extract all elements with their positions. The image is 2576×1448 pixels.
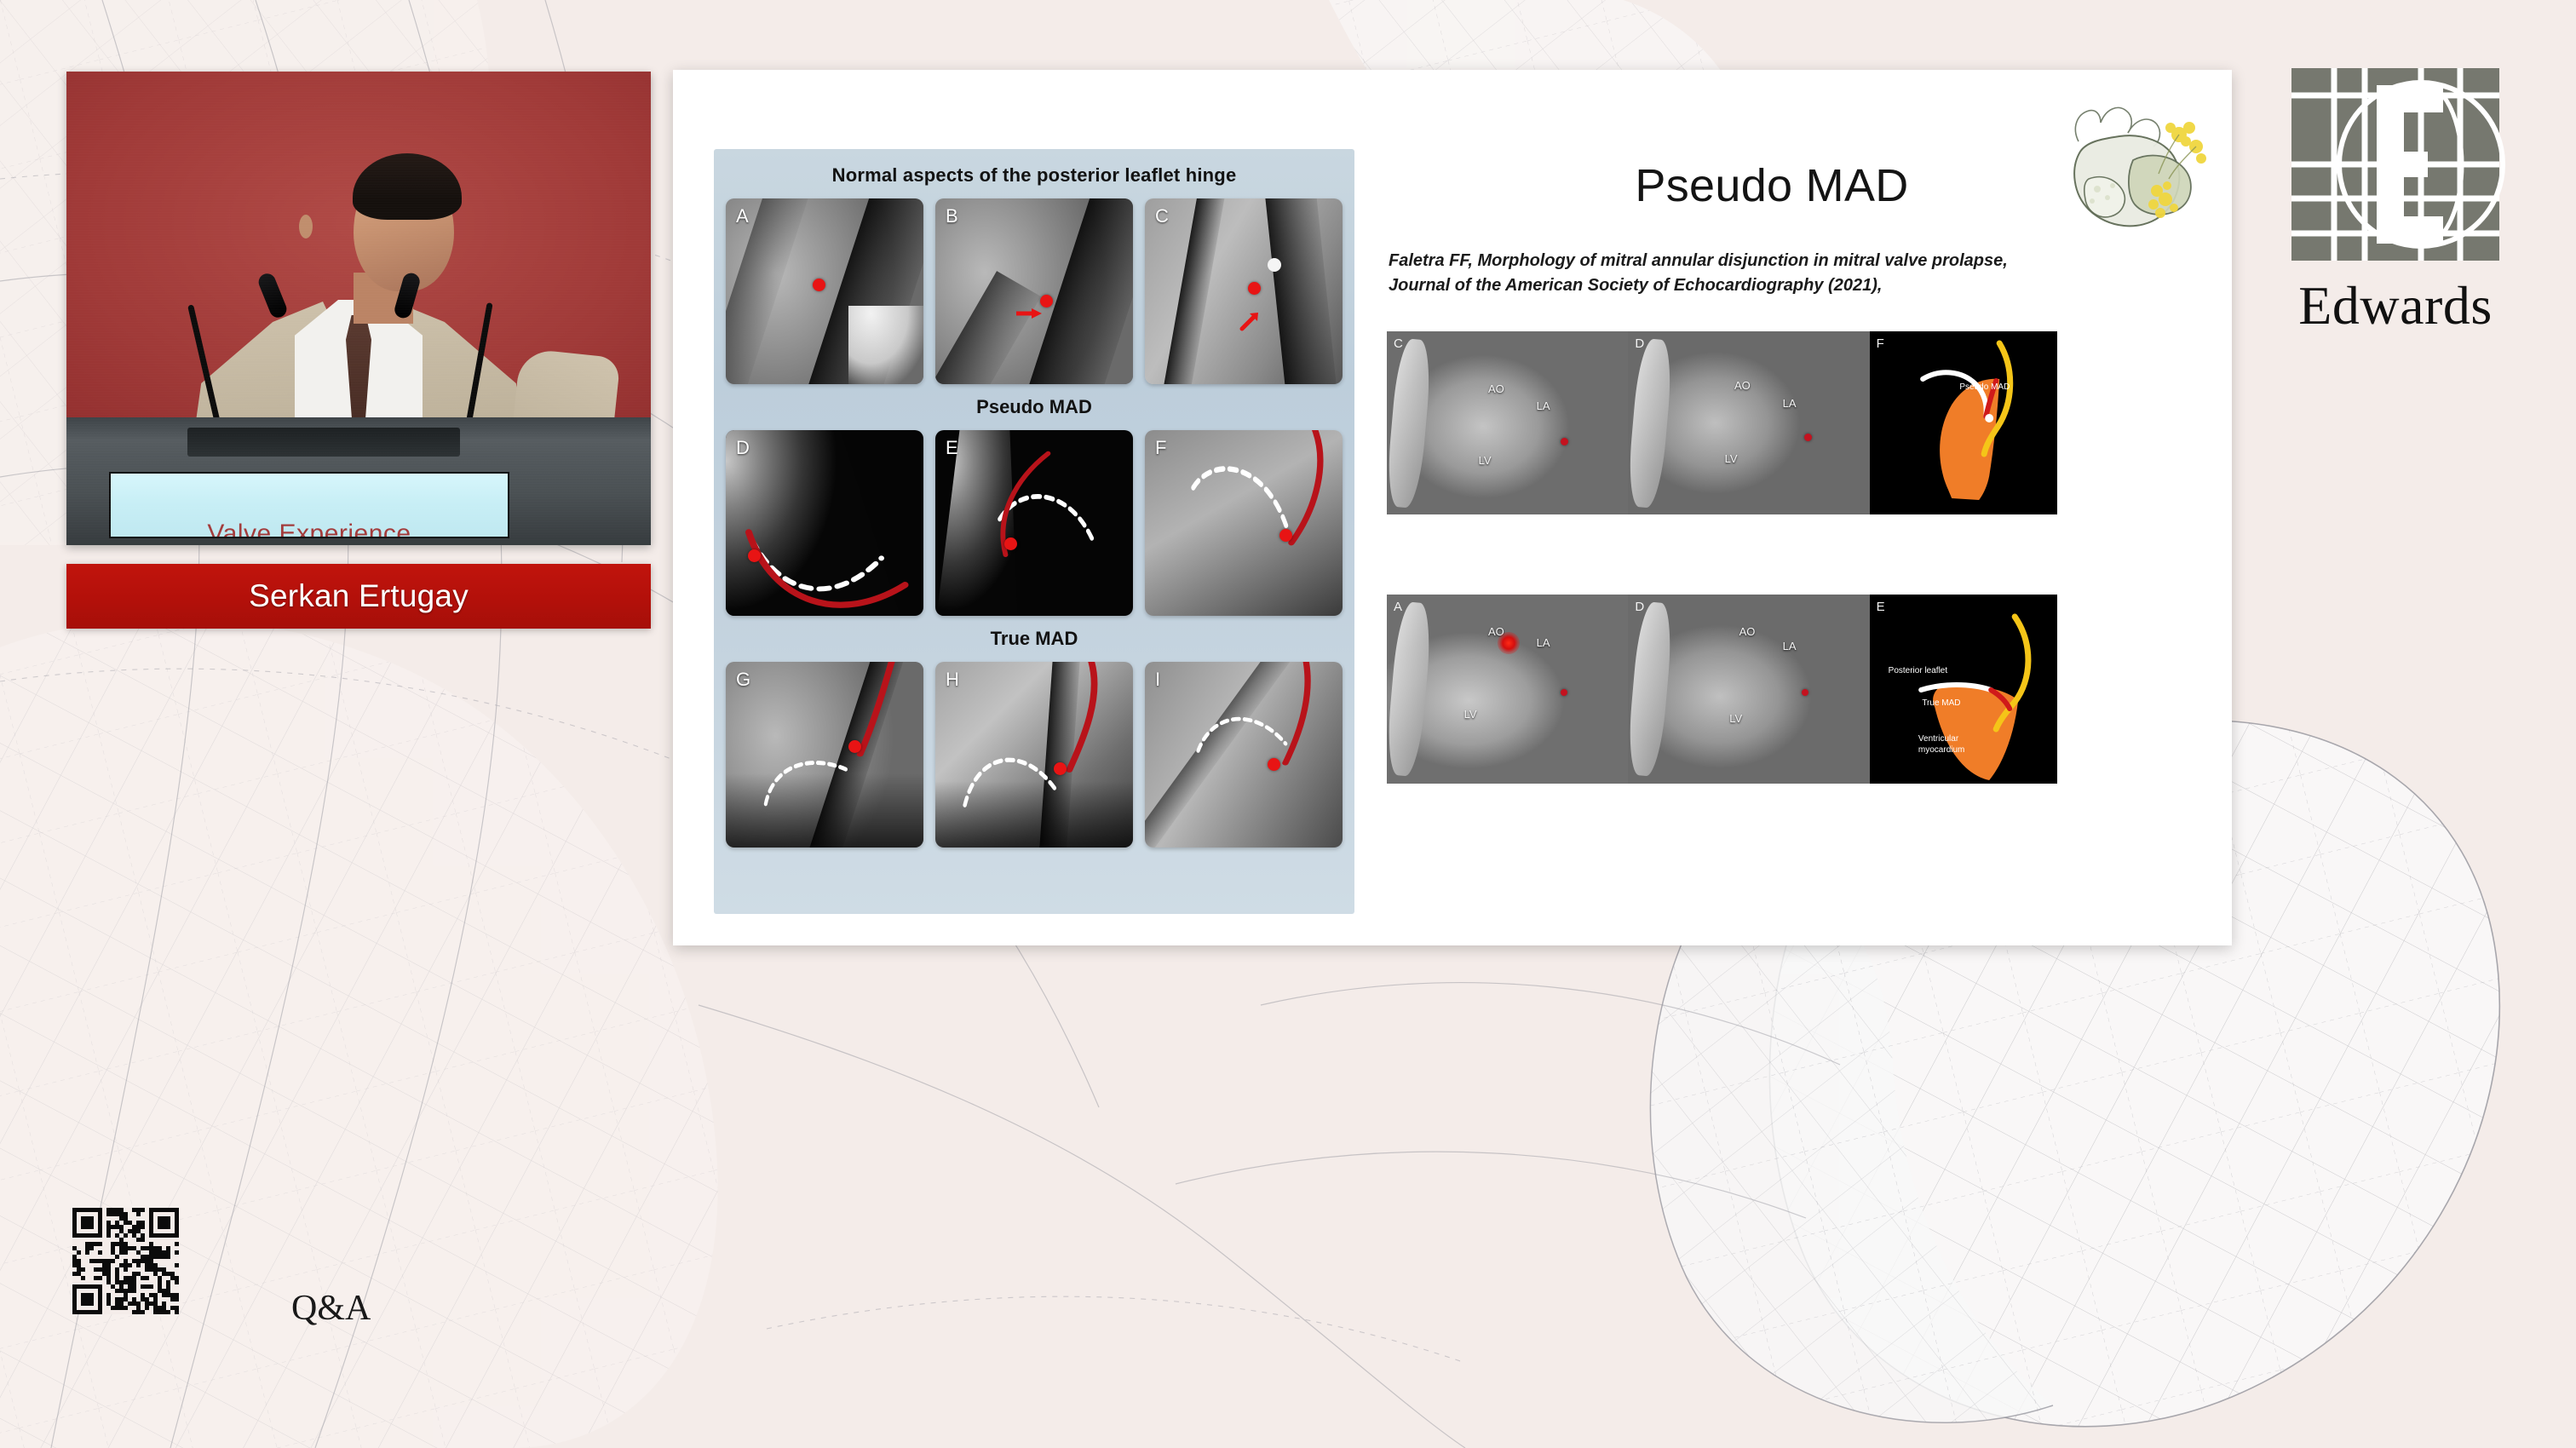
anat-label-lv: LV (1479, 454, 1492, 467)
strip-letter-A: A (1394, 600, 1402, 614)
anat-label-ao: AO (1739, 625, 1756, 638)
figure-letter-A: A (736, 205, 749, 227)
pseudo-mad-schematic (1870, 331, 2057, 514)
schematic-label-myocardium: Ventricular myocardium (1918, 734, 1980, 756)
anatomical-heart-illustration (2051, 85, 2222, 256)
speaker-video-feed[interactable]: Valve Experience (66, 72, 651, 545)
strip-cell-D2[interactable]: D AO LA LV (1628, 595, 1869, 784)
figure-letter-B: B (946, 205, 958, 227)
figure-cell-H[interactable]: H (935, 662, 1133, 848)
figure-letter-H: H (946, 669, 959, 691)
figure-row-normal: A B (726, 198, 1343, 384)
figure-section-title-true: True MAD (714, 628, 1354, 650)
pseudo-mad-strip[interactable]: C AO LA LV D AO LA LV F Pseudo (1387, 331, 2057, 514)
strip-letter-D: D (1635, 336, 1644, 351)
figure-cell-I[interactable]: I (1145, 662, 1343, 848)
slide-citation: Faletra FF, Morphology of mitral annular… (1389, 249, 2036, 298)
anat-label-la: LA (1537, 399, 1550, 412)
annulus-red-curve-H (1050, 662, 1113, 777)
true-mad-strip[interactable]: A AO LA LV D AO LA LV E Posterior leafle… (1387, 595, 2057, 784)
annulus-marker-dot (1561, 438, 1568, 445)
anat-label-lv: LV (1725, 452, 1738, 465)
strip-letter-F: F (1877, 336, 1884, 351)
video-noise-overlay (66, 72, 651, 545)
strip-cell-F-schematic[interactable]: F Pseudo MAD (1870, 331, 2057, 514)
edwards-e-globe-mark (2276, 58, 2515, 271)
speaker-name-banner: Serkan Ertugay (66, 564, 651, 629)
annulus-red-curve-E (983, 449, 1058, 564)
heart-illustration-svg (2051, 85, 2222, 256)
edwards-mark-svg (2276, 58, 2515, 271)
qa-label: Q&A (291, 1288, 371, 1329)
annulus-marker-dot (1279, 529, 1292, 542)
schematic-label-pseudo-mad: Pseudo MAD (1959, 382, 2010, 394)
strip-cell-C[interactable]: C AO LA LV (1387, 331, 1628, 514)
figure-cell-E[interactable]: E (935, 430, 1133, 616)
strip-letter-C: C (1394, 336, 1403, 351)
figure-cell-F[interactable]: F (1145, 430, 1343, 616)
figure-letter-I: I (1155, 669, 1160, 691)
annulus-red-curve-I (1268, 662, 1327, 769)
schematic-label-leaflet: Posterior leaflet (1889, 666, 1962, 677)
edwards-wordmark: Edwards (2276, 274, 2515, 337)
anat-label-ao: AO (1488, 382, 1504, 395)
presentation-slide[interactable]: Normal aspects of the posterior leaflet … (673, 70, 2232, 945)
anat-label-lv: LV (1464, 708, 1477, 721)
edwards-logo: Edwards (2276, 58, 2515, 348)
figure-cell-D[interactable]: D (726, 430, 923, 616)
strip-letter-D2: D (1635, 600, 1644, 614)
figure-panel: Normal aspects of the posterior leaflet … (714, 149, 1354, 914)
figure-section-title-normal: Normal aspects of the posterior leaflet … (714, 164, 1354, 187)
annulus-marker-dot (813, 279, 825, 291)
figure-letter-F: F (1155, 437, 1166, 459)
anat-label-la: LA (1783, 397, 1797, 410)
strip-cell-E-schematic[interactable]: E Posterior leaflet True MAD Ventricular… (1870, 595, 2057, 784)
figure-row-pseudo: D E (726, 430, 1343, 616)
strip-letter-E: E (1877, 600, 1885, 614)
figure-row-true: G H (726, 662, 1343, 848)
strip-cell-A[interactable]: A AO LA LV (1387, 595, 1628, 784)
annulus-red-curve-D (742, 523, 912, 616)
red-arrow-B (1015, 306, 1044, 321)
schematic-label-true-mad: True MAD (1922, 698, 1973, 710)
slide-title: Pseudo MAD (1474, 159, 2070, 212)
figure-cell-C[interactable]: C (1145, 198, 1343, 384)
figure-cell-A[interactable]: A (726, 198, 923, 384)
speaker-name: Serkan Ertugay (249, 578, 469, 614)
annulus-marker-dot (1561, 689, 1567, 696)
qr-code[interactable] (72, 1208, 179, 1314)
figure-section-title-pseudo: Pseudo MAD (714, 396, 1354, 418)
qr-code-canvas[interactable] (72, 1208, 179, 1314)
annulus-marker-dot (748, 549, 761, 562)
figure-cell-G[interactable]: G (726, 662, 923, 848)
figure-letter-G: G (736, 669, 750, 691)
annulus-marker-dot (1248, 282, 1261, 295)
figure-cell-B[interactable]: B (935, 198, 1133, 384)
figure-letter-C: C (1155, 205, 1169, 227)
annulus-marker-dot (1054, 762, 1067, 775)
anat-label-la: LA (1537, 636, 1550, 649)
anat-label-ao: AO (1734, 379, 1751, 392)
annulus-marker-dot (848, 740, 861, 753)
anat-label-lv: LV (1729, 712, 1742, 725)
figure-letter-E: E (946, 437, 958, 459)
anat-label-la: LA (1783, 640, 1797, 652)
red-arrow-C (1239, 310, 1262, 332)
figure-letter-D: D (736, 437, 750, 459)
strip-cell-D[interactable]: D AO LA LV (1628, 331, 1869, 514)
